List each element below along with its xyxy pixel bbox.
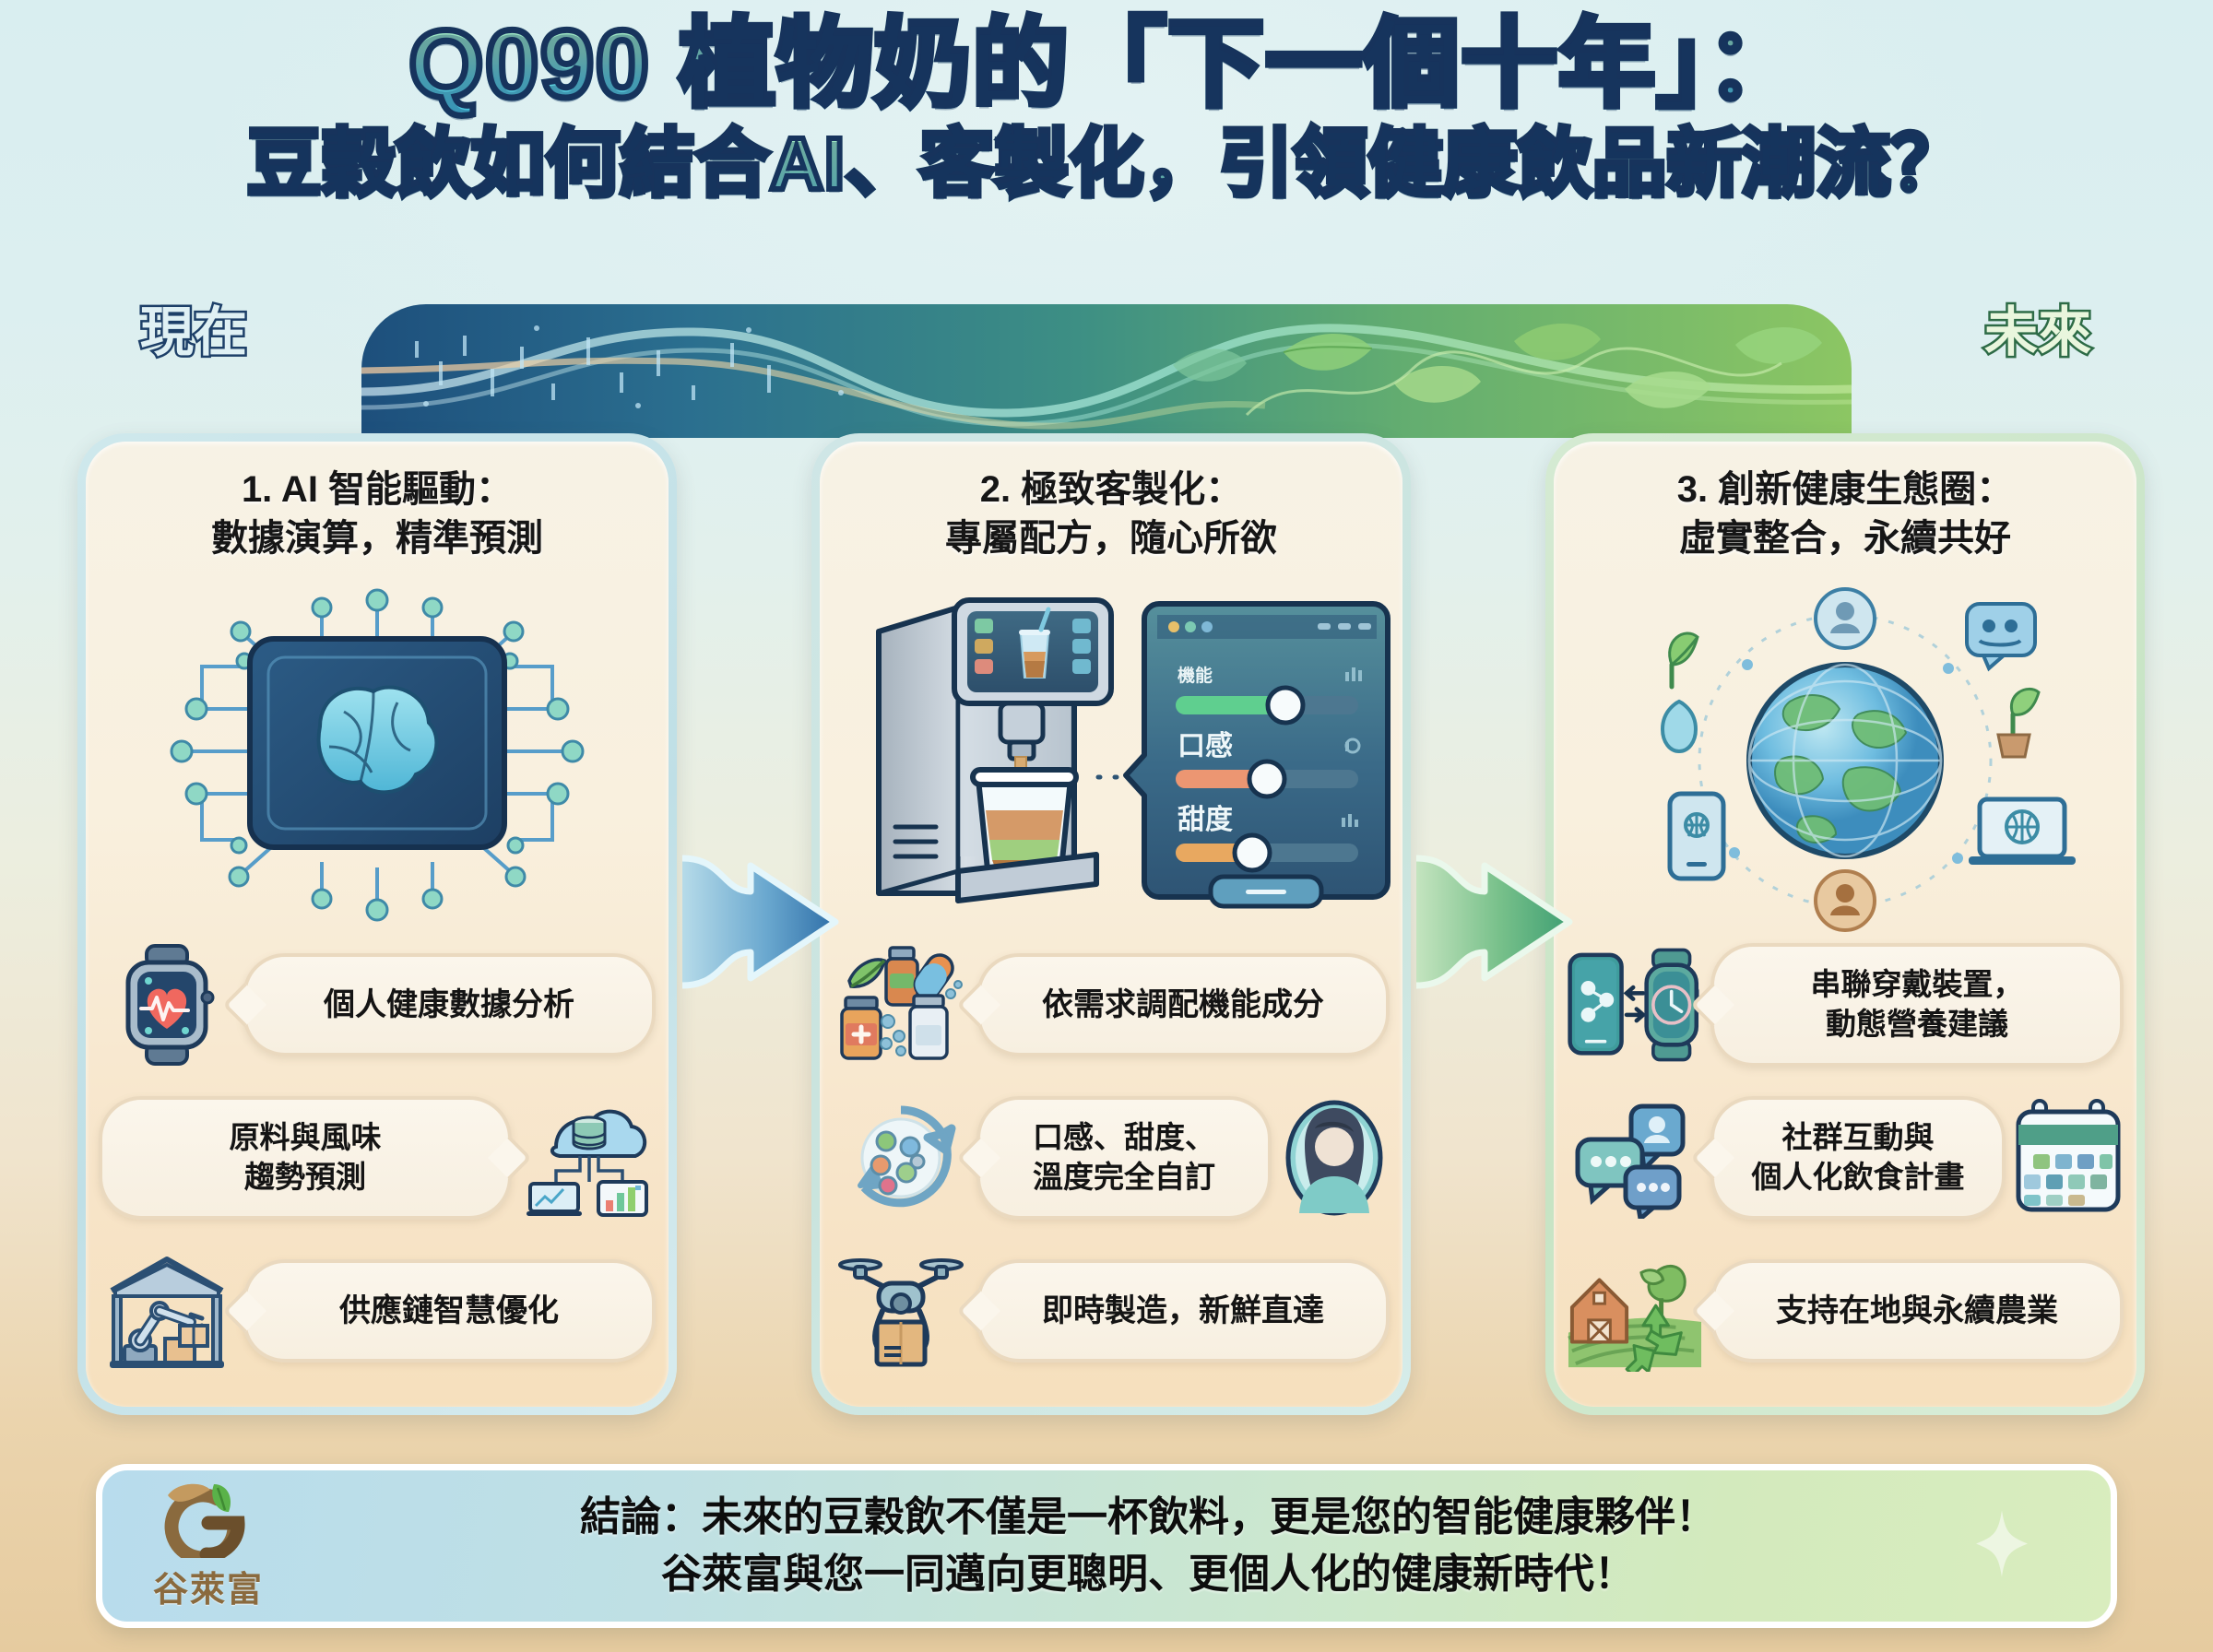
panel-2-heading: 2. 極致客製化： 專屬配方，隨心所欲 (820, 466, 1402, 563)
panel-2-heading-line1: 2. 極致客製化： (980, 469, 1242, 510)
list-item-label: 即時製造，新鮮直達 (976, 1259, 1390, 1363)
list-item-label: 口感、甜度、 溫度完全自訂 (976, 1096, 1272, 1220)
global-ecosystem-network-globe-icon (1554, 580, 2136, 939)
supplement-bottles-icon (833, 942, 969, 1068)
sparkle-decoration (1972, 1507, 2031, 1586)
ingredient-cycle-icon (833, 1095, 969, 1221)
smartwatch-heartrate-icon (99, 942, 235, 1068)
data-to-nature-flow-banner (361, 304, 1852, 438)
list-item-label: 串聯穿戴裝置， 動態營養建議 (1710, 943, 2124, 1067)
panel-3-heading: 3. 創新健康生態圈： 虛實整合，永續共好 (1554, 466, 2136, 563)
panel-1-items: 個人健康數據分析 (86, 942, 669, 1374)
list-item[interactable]: 即時製造，新鮮直達 (833, 1248, 1390, 1374)
factory-robot-arm-icon (99, 1248, 235, 1374)
list-item[interactable]: 供應鏈智慧優化 (99, 1248, 656, 1374)
panel-row: 1. AI 智能驅動： 數據演算，精準預測 (0, 433, 2213, 1429)
brand-name: 谷萊富 (139, 1561, 278, 1611)
phone-watch-sync-icon (1567, 942, 1703, 1068)
list-item[interactable]: 串聯穿戴裝置， 動態營養建議 (1567, 942, 2124, 1068)
list-item[interactable]: 口感、甜度、 溫度完全自訂 (833, 1095, 1390, 1221)
page-title: Q090 植物奶的「下一個十年」： 豆穀飲如何結合AI、客製化，引領健康飲品新潮… (0, 13, 2213, 208)
conclusion-line-1: 結論：未來的豆穀飲不僅是一杯飲料，更是您的智能健康夥伴！ (278, 1489, 2018, 1546)
panel-3-items: 串聯穿戴裝置， 動態營養建議 (1554, 942, 2136, 1374)
panel-2-heading-line2: 專屬配方，隨心所欲 (836, 514, 1386, 563)
list-item[interactable]: 支持在地與永續農業 (1567, 1248, 2124, 1374)
flow-arrow-2-to-3 (1414, 834, 1580, 1009)
list-item[interactable]: 依需求調配機能成分 (833, 942, 1390, 1068)
list-item-label-text: 串聯穿戴裝置， 動態營養建議 (1811, 965, 2024, 1044)
panel-customization[interactable]: 2. 極致客製化： 專屬配方，隨心所欲 (811, 433, 1411, 1415)
title-line-1: Q090 植物奶的「下一個十年」： (0, 13, 2213, 116)
list-item-label: 原料與風味 趨勢預測 (99, 1096, 512, 1220)
list-item[interactable]: 社群互動與 個人化飲食計畫 (1567, 1095, 2124, 1221)
panel-3-heading-line2: 虛實整合，永續共好 (1570, 514, 2120, 563)
list-item-label: 供應鏈智慧優化 (243, 1259, 656, 1363)
panel-3-heading-line1: 3. 創新健康生態圈： (1677, 469, 2013, 510)
list-item-label: 個人健康數據分析 (243, 953, 656, 1056)
timeline-label-future: 未來 (1984, 306, 2091, 360)
conclusion-text: 結論：未來的豆穀飲不僅是一杯飲料，更是您的智能健康夥伴！ 谷萊富與您一同邁向更聰… (278, 1489, 2074, 1604)
list-item-label-text: 口感、甜度、 溫度完全自訂 (1033, 1118, 1215, 1198)
timeline-label-now: 現在 (140, 306, 247, 360)
list-item-label: 支持在地與永續農業 (1710, 1259, 2124, 1363)
list-item-label-text: 社群互動與 個人化飲食計畫 (1752, 1118, 1965, 1198)
farm-sustainable-icon (1567, 1248, 1703, 1374)
panel-1-heading-line2: 數據演算，精準預測 (102, 514, 652, 563)
list-item-label: 依需求調配機能成分 (976, 953, 1390, 1056)
slider-label-function: 機能 (1178, 665, 1213, 686)
panel-1-heading: 1. AI 智能驅動： 數據演算，精準預測 (86, 466, 669, 563)
gulaifu-leaf-g-logo (153, 1481, 264, 1558)
conclusion-line-2: 谷萊富與您一同邁向更聰明、更個人化的健康新時代！ (278, 1546, 2018, 1603)
panel-ai-driven[interactable]: 1. AI 智能驅動： 數據演算，精準預測 (77, 433, 677, 1415)
slider-label-sweetness: 甜度 (1178, 805, 1233, 835)
calendar-icon (2013, 1095, 2124, 1221)
slider-label-taste: 口感 (1178, 731, 1233, 761)
user-avatar-icon (1279, 1095, 1390, 1221)
flow-arrow-1-to-2 (680, 834, 846, 1009)
list-item-label-text: 原料與風味 趨勢預測 (230, 1118, 382, 1198)
drone-delivery-icon (833, 1248, 969, 1374)
chat-community-icon (1567, 1095, 1703, 1221)
ai-chip-brain-circuit-icon (86, 580, 669, 939)
list-item[interactable]: 原料與風味 趨勢預測 (99, 1095, 656, 1221)
panel-1-heading-line1: 1. AI 智能驅動： (242, 469, 513, 510)
list-item-label: 社群互動與 個人化飲食計畫 (1710, 1096, 2006, 1220)
panel-health-ecosystem[interactable]: 3. 創新健康生態圈： 虛實整合，永續共好 (1545, 433, 2145, 1415)
cloud-database-analytics-icon (519, 1095, 656, 1221)
list-item[interactable]: 個人健康數據分析 (99, 942, 656, 1068)
brand-logo: 谷萊富 (139, 1481, 278, 1611)
beverage-dispenser-with-slider-panel-icon: 機能 口感 甜度 (820, 580, 1402, 939)
title-line-2: 豆穀飲如何結合AI、客製化，引領健康飲品新潮流？ (0, 120, 2213, 208)
panel-2-items: 依需求調配機能成分 (820, 942, 1402, 1374)
conclusion-banner: 谷萊富 結論：未來的豆穀飲不僅是一杯飲料，更是您的智能健康夥伴！ 谷萊富與您一同… (96, 1464, 2117, 1628)
